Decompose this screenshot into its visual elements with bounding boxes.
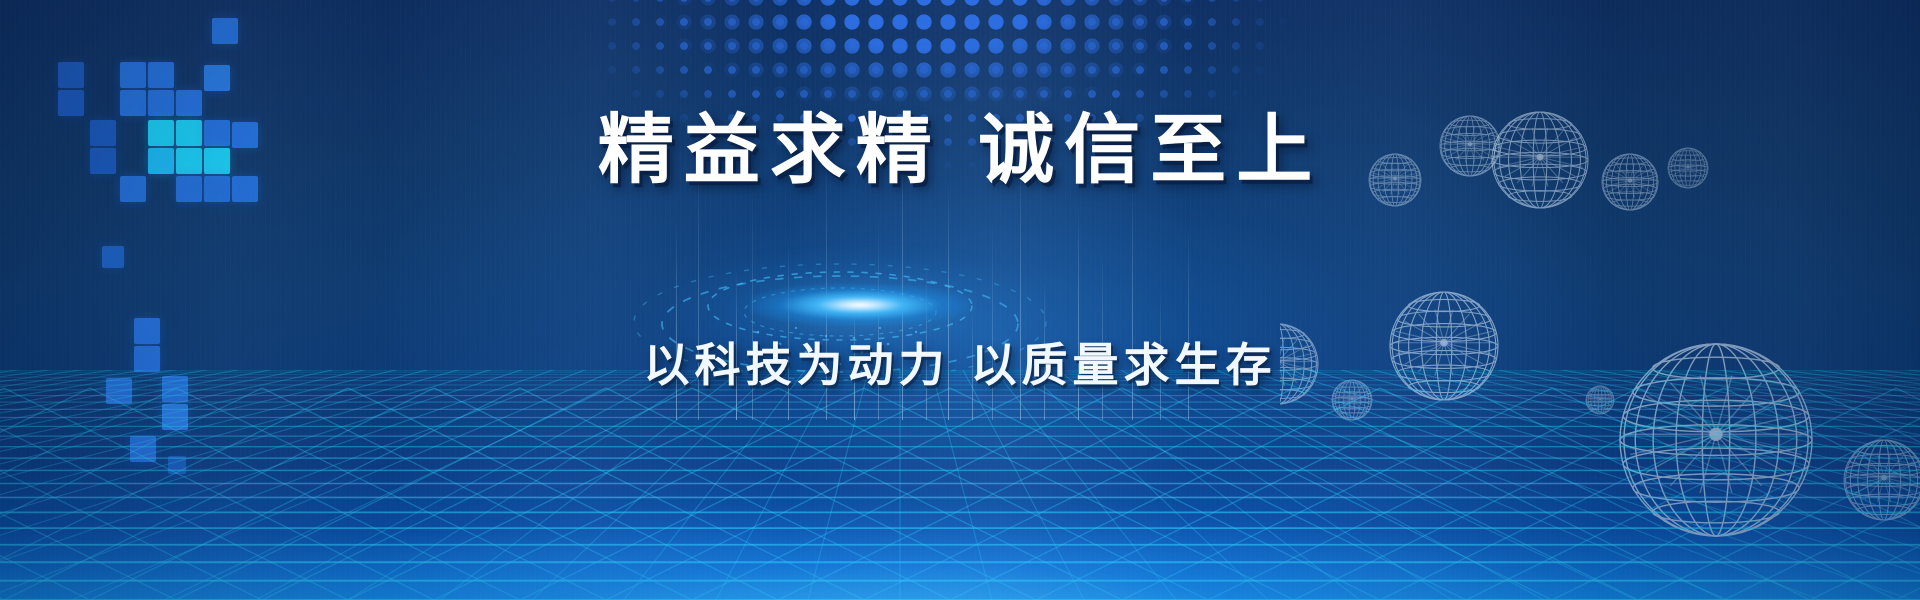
- mosaic-square: [58, 62, 84, 88]
- grid-converging-line: [808, 370, 900, 600]
- grid-diagonal-line: [1724, 388, 1920, 600]
- hero-banner: 精益求精 诚信至上 以科技为动力 以质量求生存: [0, 0, 1920, 600]
- mosaic-square: [102, 246, 124, 268]
- grid-converging-line: [900, 370, 1544, 600]
- mosaic-square: [134, 318, 160, 344]
- grid-diagonal-line: [0, 388, 90, 600]
- grid-diagonal-line: [1724, 388, 1920, 600]
- grid-converging-line: [900, 370, 1268, 600]
- mosaic-square: [212, 18, 238, 44]
- grid-floor-lines: [0, 370, 1920, 600]
- banner-subtitle: 以科技为动力 以质量求生存: [643, 342, 1276, 388]
- grid-diagonal-line: [0, 388, 90, 600]
- grid-converging-line: [900, 370, 1176, 600]
- subtitle-container: 以科技为动力 以质量求生存: [0, 342, 1920, 388]
- mosaic-square: [148, 62, 174, 88]
- grid-converging-line: [900, 370, 1360, 600]
- mosaic-square: [120, 62, 146, 88]
- banner-title: 精益求精 诚信至上: [598, 112, 1322, 188]
- grid-converging-line: [900, 370, 1820, 600]
- grid-converging-line: [164, 370, 900, 600]
- core-inner-glow: [750, 284, 970, 326]
- grid-converging-line: [900, 370, 992, 600]
- title-container: 精益求精 诚信至上: [0, 112, 1920, 188]
- perspective-grid-floor: [0, 370, 1920, 600]
- mosaic-square: [204, 65, 230, 91]
- grid-converging-line: [900, 370, 1084, 600]
